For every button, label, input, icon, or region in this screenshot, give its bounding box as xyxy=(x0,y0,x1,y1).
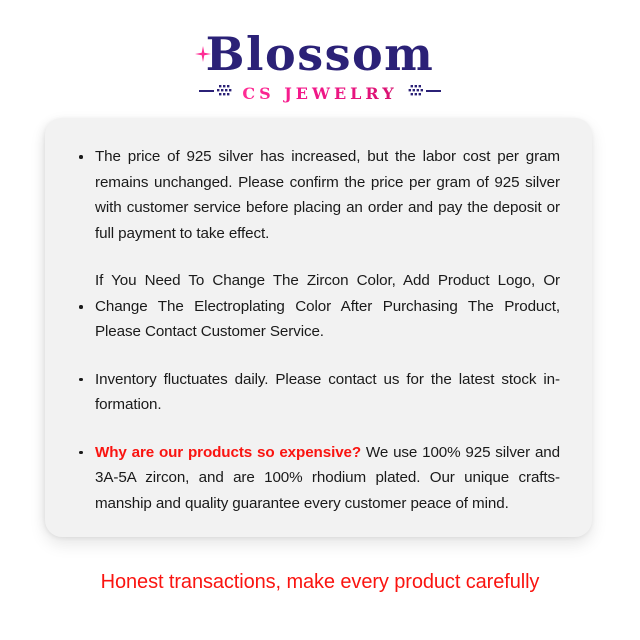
brand-wordmark-wrapper: Blossom xyxy=(206,28,435,80)
notice-bullet-3-text: Inventory fluctuates daily. Please conta… xyxy=(95,371,560,414)
notice-bullet-1-text: The price of 925 silver has increased, b… xyxy=(95,148,560,242)
notice-card: The price of 925 silver has increased, b… xyxy=(45,118,592,537)
notice-bullet-2-text: If You Need To Change The Zircon Color, … xyxy=(95,272,560,340)
notice-bullet-2: If You Need To Change The Zircon Color, … xyxy=(76,268,560,345)
brand-header: Blossom CS JEWELRY xyxy=(0,28,640,104)
brand-subtitle-text: CS JEWELRY xyxy=(242,84,397,103)
footer-tagline: Honest transactions, make every product … xyxy=(0,568,640,596)
brand-wordmark-text: Blossom xyxy=(206,27,435,81)
notice-bullet-4-highlight: Why are our products so expensive? xyxy=(95,444,361,461)
flourish-left-icon xyxy=(199,83,235,104)
notice-bullet-3: Inventory fluctuates daily. Please conta… xyxy=(76,367,560,418)
footer-tagline-text: Honest transactions, make every product … xyxy=(101,571,540,593)
brand-subtitle-row: CS JEWELRY xyxy=(0,82,640,104)
notice-bullet-1: The price of 925 silver has increased, b… xyxy=(76,144,560,246)
notice-bullet-list: The price of 925 silver has increased, b… xyxy=(76,144,560,516)
flourish-right-icon xyxy=(405,83,441,104)
notice-bullet-4: Why are our products so expensive? We us… xyxy=(76,440,560,517)
